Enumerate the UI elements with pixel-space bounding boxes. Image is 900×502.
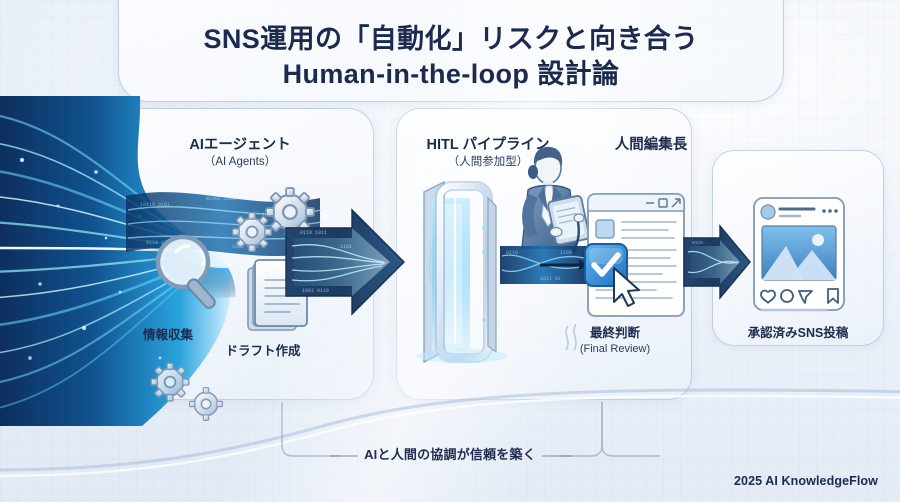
bottom-flow-curve — [0, 390, 900, 476]
sub-label-approved-post: 承認済みSNS投稿 — [712, 326, 884, 342]
svg-text:1100: 1100 — [560, 250, 572, 256]
svg-text:10110 0101: 10110 0101 — [140, 202, 170, 208]
sub-label-post-jp: 承認済みSNS投稿 — [712, 326, 884, 342]
bottom-caption: AIと人間の協調が信頼を築く — [300, 444, 600, 463]
sub-label-information-collection: 情報収集 — [108, 328, 228, 344]
stage-label-hitl-en: （人間参加型） — [368, 154, 608, 170]
sub-label-collect-jp: 情報収集 — [108, 328, 228, 344]
svg-text:0110: 0110 — [692, 240, 703, 246]
gear-icon-secondary — [151, 363, 222, 420]
sun-icon — [812, 234, 824, 246]
data-arrow-icon-2: 0110 1001 — [684, 226, 750, 298]
stage-label-human-editor-jp: 人間編集長 — [556, 136, 746, 154]
svg-text:0110: 0110 — [506, 250, 518, 256]
social-post-card-icon — [754, 198, 844, 310]
infographic-canvas: 10110 0101 01001 1100 1101 0011 0110 100… — [0, 0, 900, 502]
glass-gate-icon — [416, 182, 508, 363]
sub-label-draft-jp: ドラフト作成 — [198, 344, 328, 360]
stage-label-ai-agents-jp: AIエージェント — [130, 136, 350, 154]
svg-text:01001 1100: 01001 1100 — [206, 196, 236, 202]
footer-credit: 2025 AI KnowledgeFlow — [734, 474, 878, 488]
svg-text:0110 1011: 0110 1011 — [300, 230, 327, 236]
avatar — [761, 205, 775, 219]
svg-text:1001 0110: 1001 0110 — [302, 288, 329, 294]
sub-label-final-en: (Final Review) — [540, 342, 690, 357]
stage-label-human-editor: 人間編集長 — [556, 136, 746, 154]
sub-label-final-review: 最終判断 (Final Review) — [540, 326, 690, 356]
review-data-bar: 0110 1011 01 1100 — [500, 246, 588, 284]
page-title: SNS運用の「自動化」リスクと向き合う Human-in-the-loop 設計… — [118, 22, 784, 92]
more-options-icon — [822, 209, 838, 213]
stage-label-ai-agents: AIエージェント （AI Agents） — [130, 136, 350, 170]
svg-text:1001: 1001 — [700, 290, 711, 296]
sub-label-draft-creation: ドラフト作成 — [198, 344, 328, 360]
stage-label-ai-agents-en: （AI Agents） — [130, 154, 350, 170]
title-line-2: Human-in-the-loop 設計論 — [118, 57, 784, 92]
svg-text:1101: 1101 — [340, 244, 352, 250]
title-line-1: SNS運用の「自動化」リスクと向き合う — [118, 22, 784, 57]
svg-text:1011 01: 1011 01 — [540, 276, 561, 282]
sub-label-final-jp: 最終判断 — [540, 326, 690, 342]
thumbnail-icon — [596, 220, 614, 238]
